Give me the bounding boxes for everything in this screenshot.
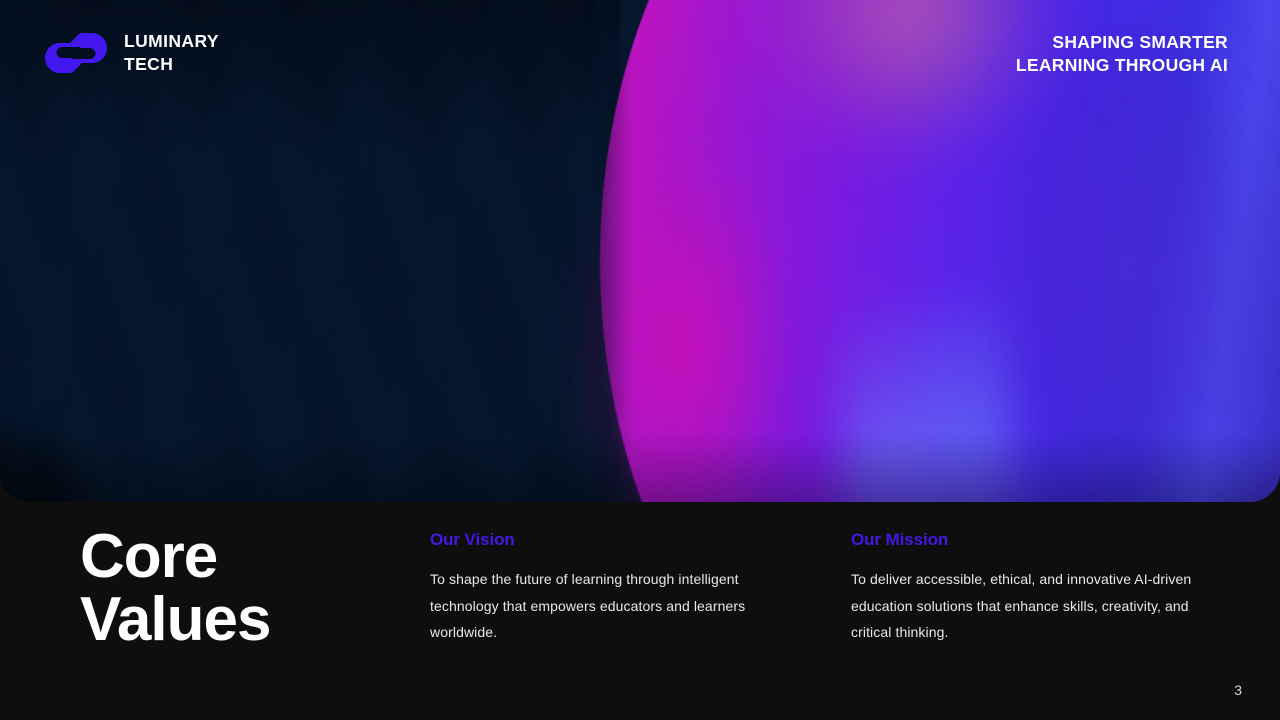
content-area: Core Values Our Vision To shape the futu… [0, 502, 1280, 720]
slide: LUMINARY TECH SHAPING SMARTER LEARNING T… [0, 0, 1280, 720]
mission-body: To deliver accessible, ethical, and inno… [851, 566, 1213, 646]
page-number: 3 [1234, 682, 1242, 698]
mission-column: Our Mission To deliver accessible, ethic… [851, 530, 1213, 646]
brand-name: LUMINARY TECH [124, 30, 219, 76]
mission-heading: Our Mission [851, 530, 1213, 550]
vision-heading: Our Vision [430, 530, 792, 550]
vision-column: Our Vision To shape the future of learni… [430, 530, 792, 646]
tagline-line2: LEARNING THROUGH AI [1016, 54, 1228, 77]
brand-name-line1: LUMINARY [124, 30, 219, 53]
tagline-line1: SHAPING SMARTER [1016, 31, 1228, 54]
brand-name-line2: TECH [124, 53, 219, 76]
hero-bottom-shade [0, 432, 1280, 502]
hero-top-vignette [0, 0, 620, 160]
page-title-line1: Core [80, 525, 270, 588]
page-title: Core Values [80, 525, 270, 651]
luminary-bolt-logo-icon [44, 32, 108, 74]
page-title-line2: Values [80, 588, 270, 651]
gradient-blob-edge-softener [596, 0, 632, 502]
vision-body: To shape the future of learning through … [430, 566, 792, 646]
tagline: SHAPING SMARTER LEARNING THROUGH AI [1016, 31, 1228, 77]
brand-lockup[interactable]: LUMINARY TECH [44, 30, 219, 76]
